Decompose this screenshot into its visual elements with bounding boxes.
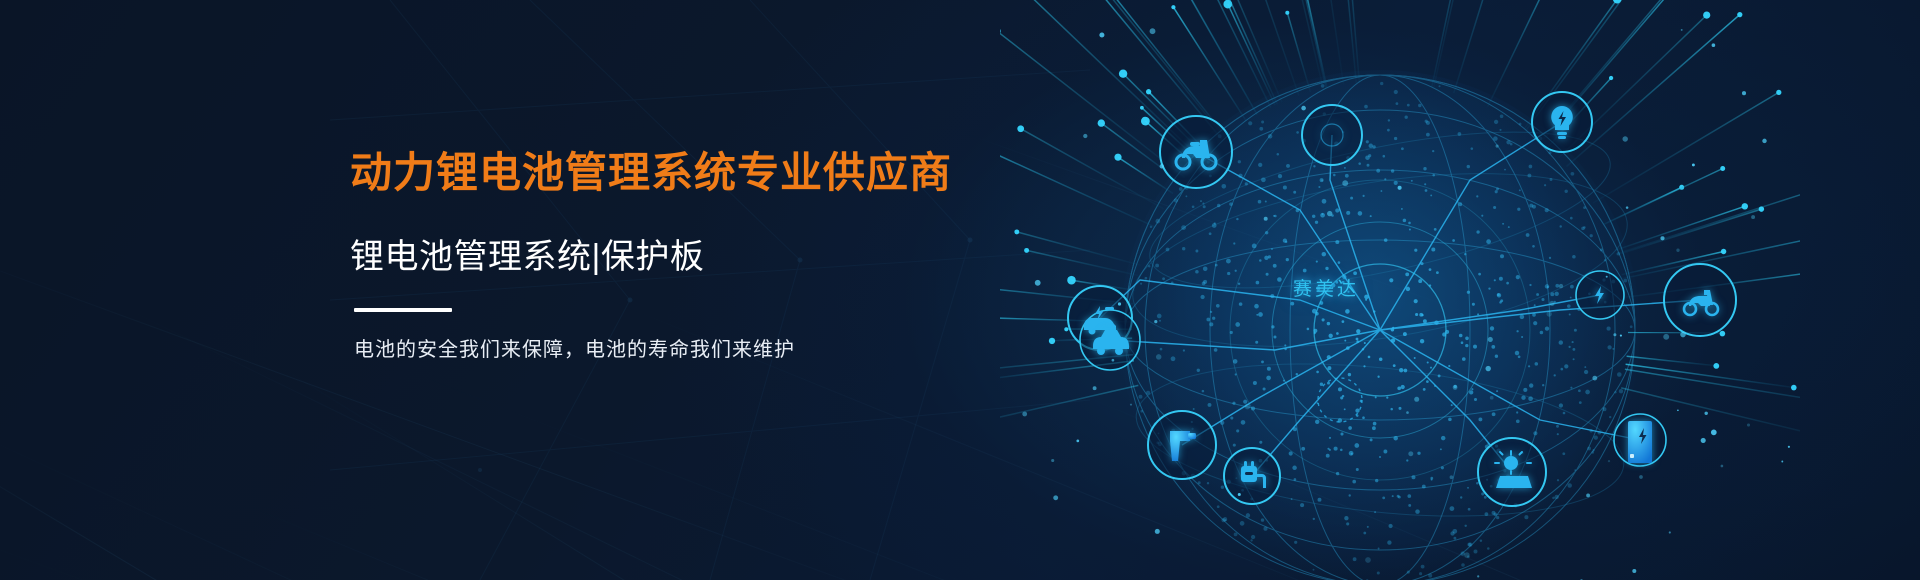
charging-plug-icon [1236,458,1270,494]
scooter-icon [1682,284,1720,318]
globe-center-label: 赛美达 [1236,274,1416,301]
network-globe-graphic: 赛美达 [1000,0,1800,580]
car-icon [1088,322,1132,358]
hero-subtitle: 锂电池管理系统|保护板 [350,240,704,274]
hero-banner: 动力锂电池管理系统专业供应商 锂电池管理系统|保护板 电池的安全我们来保障，电池… [0,0,1920,580]
solar-panel-icon [1490,450,1536,492]
title-divider [354,308,452,312]
page-title: 动力锂电池管理系统专业供应商 [350,152,952,194]
power-bank-icon [1622,418,1658,466]
hero-tagline: 电池的安全我们来保障，电池的寿命我们来维护 [354,340,795,360]
scooter-icon [1174,132,1218,172]
bolt-node-icon [1588,283,1612,307]
power-drill-icon [1164,425,1200,465]
hero-copy: 动力锂电池管理系统专业供应商 锂电池管理系统|保护板 电池的安全我们来保障，电池… [350,0,1050,580]
lightbulb-bolt-icon [1546,104,1578,140]
empty-node-icon [1318,121,1346,149]
